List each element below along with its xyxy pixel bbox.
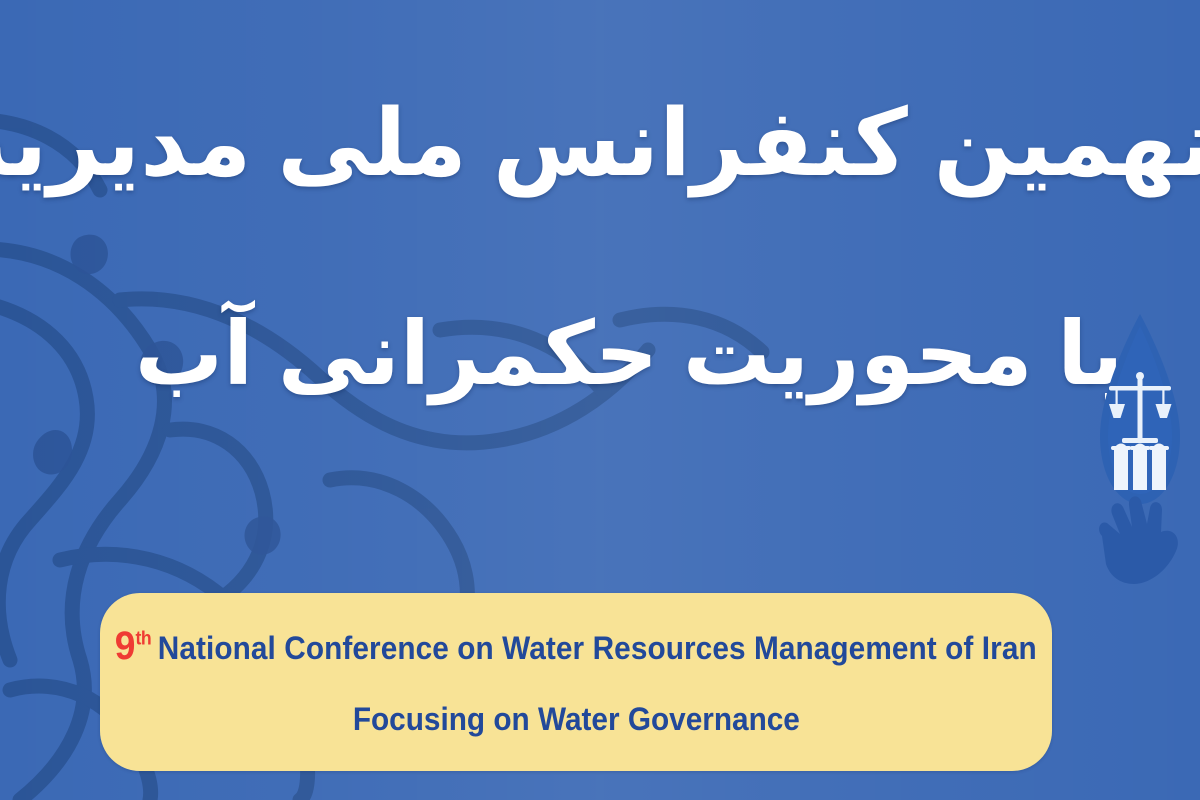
ordinal-suffix: th [136,629,152,650]
ordinal-marker: 9th [115,624,152,668]
persian-title-line-1: نهمین کنفرانس ملی مدیریت منابع آب ایران [0,96,1200,191]
english-title-banner: 9thNational Conference on Water Resource… [100,593,1052,771]
english-title-line-2: Focusing on Water Governance [352,701,799,738]
conference-poster: نهمین کنفرانس ملی مدیریت منابع آب ایران … [0,0,1200,800]
open-hand [1099,496,1178,584]
english-headline-text: National Conference on Water Resources M… [158,630,1037,666]
persian-headline-block: نهمین کنفرانس ملی مدیریت منابع آب ایران … [0,0,1200,399]
ordinal-number: 9 [115,624,136,668]
three-pillars [1111,444,1169,491]
conference-logo [1084,308,1196,608]
english-title-line-1: 9thNational Conference on Water Resource… [115,626,1037,667]
persian-title-line-2: با محوریت حکمرانی آب [0,309,1200,399]
